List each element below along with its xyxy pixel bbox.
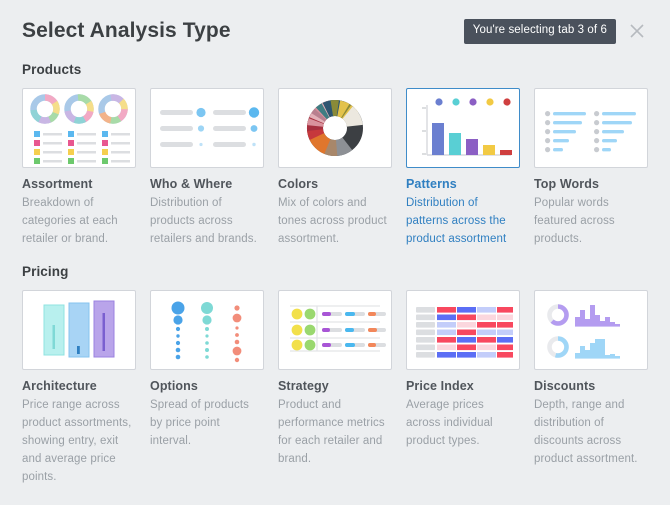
color-donut-icon [279,89,391,167]
card-title: Architecture [22,379,136,393]
card-price-index[interactable]: Price Index Average prices across indivi… [406,290,520,486]
card-title: Discounts [534,379,648,393]
patterns-thumbnail [406,88,520,168]
card-description: Spread of products by price point interv… [150,397,264,450]
card-description: Depth, range and distribution of discoun… [534,397,648,468]
section-title-products: Products [22,62,648,77]
card-discounts[interactable]: Discounts Depth, range and distribution … [534,290,648,486]
card-description: Distribution of patterns across the prod… [406,195,520,248]
header-actions: You're selecting tab 3 of 6 [464,19,648,44]
box-range-icon [23,291,135,369]
card-who-where[interactable]: Who & Where Distribution of products acr… [150,88,264,248]
dot-columns-icon [151,291,263,369]
metrics-table-icon [279,291,391,369]
page-title: Select Analysis Type [22,19,231,43]
card-top-words[interactable]: Top Words Popular words featured across … [534,88,648,248]
assortment-thumbnail [22,88,136,168]
card-title: Colors [278,177,392,191]
card-description: Average prices across individual product… [406,397,520,450]
card-architecture[interactable]: Architecture Price range across product … [22,290,136,486]
section-products: Products [22,62,648,248]
top-words-thumbnail [534,88,648,168]
card-colors[interactable]: Colors Mix of colors and tones across pr… [278,88,392,248]
card-grid-products: Assortment Breakdown of categories at ea… [22,88,648,248]
strategy-thumbnail [278,290,392,370]
card-patterns[interactable]: Patterns Distribution of patterns across… [406,88,520,248]
price-index-thumbnail [406,290,520,370]
card-title: Assortment [22,177,136,191]
card-title: Strategy [278,379,392,393]
card-title: Price Index [406,379,520,393]
bar-chart-icon [407,89,519,167]
dialog-header: Select Analysis Type You're selecting ta… [22,0,648,62]
card-description: Price range across product assortments, … [22,397,136,486]
card-description: Breakdown of categories at each retailer… [22,195,136,248]
card-title: Top Words [534,177,648,191]
colors-thumbnail [278,88,392,168]
word-list-icon [535,89,647,167]
card-description: Product and performance metrics for each… [278,397,392,468]
architecture-thumbnail [22,290,136,370]
card-description: Mix of colors and tones across product a… [278,195,392,248]
card-title: Options [150,379,264,393]
heatmap-icon [407,291,519,369]
card-grid-pricing: Architecture Price range across product … [22,290,648,486]
bars-dots-icon [151,89,263,167]
close-icon[interactable] [626,20,648,42]
donut-legend-icon [23,89,135,167]
donut-histogram-icon [535,291,647,369]
card-title: Who & Where [150,177,264,191]
card-description: Distribution of products across retailer… [150,195,264,248]
status-badge: You're selecting tab 3 of 6 [464,19,616,44]
card-assortment[interactable]: Assortment Breakdown of categories at ea… [22,88,136,248]
discounts-thumbnail [534,290,648,370]
card-title: Patterns [406,177,520,191]
who-where-thumbnail [150,88,264,168]
select-analysis-dialog: Select Analysis Type You're selecting ta… [0,0,670,505]
card-options[interactable]: Options Spread of products by price poin… [150,290,264,486]
options-thumbnail [150,290,264,370]
card-strategy[interactable]: Strategy Product and performance metrics… [278,290,392,486]
card-description: Popular words featured across products. [534,195,648,248]
section-pricing: Pricing Architecture Price range across … [22,264,648,486]
section-title-pricing: Pricing [22,264,648,279]
